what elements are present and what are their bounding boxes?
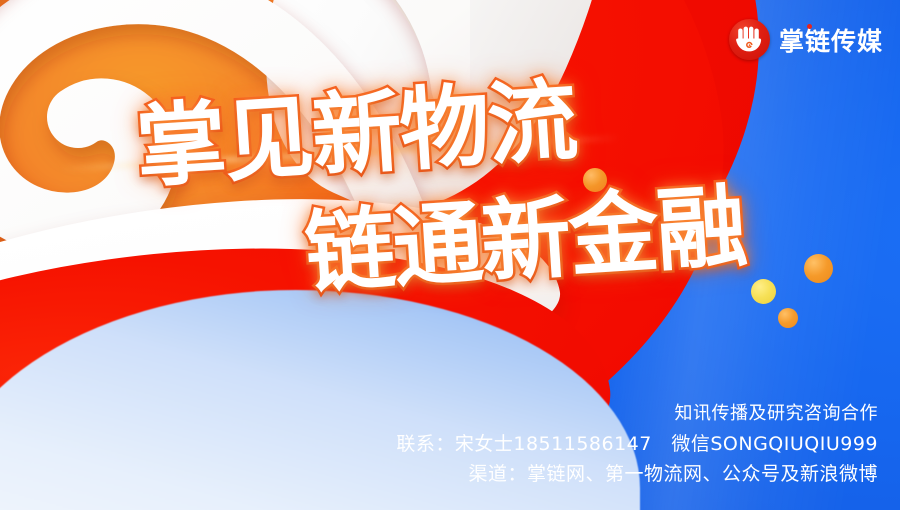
- palm-hand-icon: [729, 19, 770, 60]
- yellow-dot: [751, 279, 776, 304]
- brand-name-text: 掌链传媒: [779, 27, 883, 56]
- orange-dot-large: [804, 254, 833, 283]
- orange-dot-small-lower: [778, 308, 798, 328]
- brand-accent-dot: [807, 24, 812, 29]
- promo-banner: 掌见新物流 链通新金融 掌链传媒 知讯传播及研究咨询合作 联系: [0, 0, 900, 510]
- brand-name: 掌链传媒: [779, 22, 883, 58]
- footer-line-channels: 渠道：掌链网、第一物流网、公众号及新浪微博: [396, 459, 878, 486]
- footer-line-service: 知讯传播及研究咨询合作: [396, 399, 878, 425]
- contact-block: 知讯传播及研究咨询合作 联系：宋女士18511586147 微信SONGQIUQ…: [396, 399, 878, 486]
- footer-line-contact: 联系：宋女士18511586147 微信SONGQIUQIU999: [396, 429, 878, 456]
- orange-dot-small-upper: [583, 168, 607, 192]
- brand-logo[interactable]: 掌链传媒: [729, 19, 883, 60]
